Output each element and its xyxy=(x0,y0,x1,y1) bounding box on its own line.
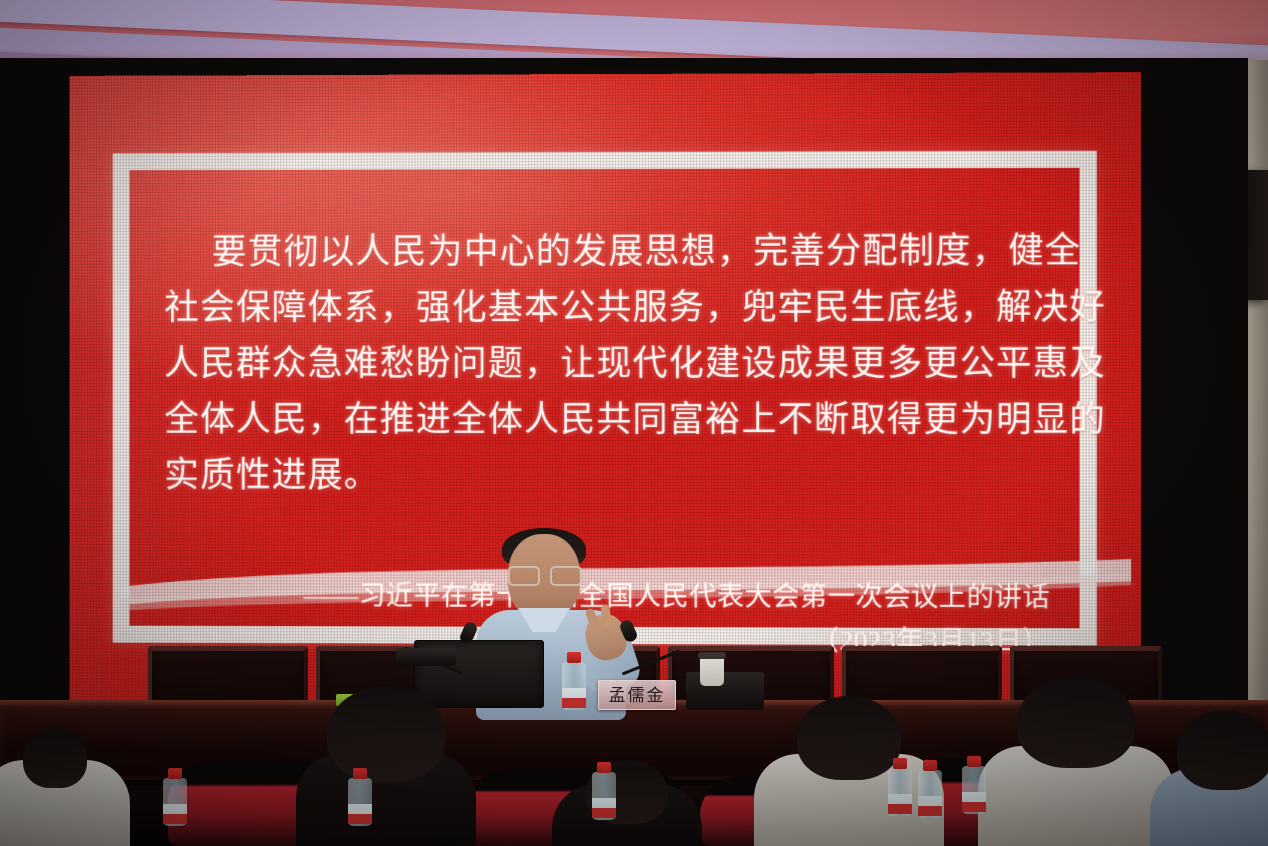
cup-lid xyxy=(698,652,726,659)
nameplate-text: 孟儒金 xyxy=(609,687,666,704)
slide-quote: 要贯彻以人民为中心的发展思想，完善分配制度，健全 社会保障体系，强化基本公共服务… xyxy=(164,223,1048,504)
stage-chair xyxy=(148,646,308,708)
control-unit xyxy=(686,672,764,710)
audience-person xyxy=(0,726,130,846)
bottle-cap xyxy=(923,760,937,771)
water-bottle xyxy=(163,768,187,826)
quote-line-3: 人民群众急难愁盼问题，让现代化建设成果更多更公平惠及 xyxy=(164,336,1048,392)
bottle-label-band xyxy=(163,814,187,824)
bottle-label-band xyxy=(562,698,586,708)
microphone-base xyxy=(396,648,456,666)
bottle-label-band xyxy=(918,806,942,816)
audience-head xyxy=(797,696,901,780)
bottle-label-band xyxy=(962,802,986,812)
audience-person xyxy=(296,686,476,846)
bottle-cap xyxy=(168,768,182,779)
water-bottle xyxy=(962,756,986,814)
quote-line-5: 实质性进展。 xyxy=(164,448,1048,505)
bottle-label-band xyxy=(348,814,372,824)
paper-cup xyxy=(700,656,724,686)
audience-head xyxy=(327,686,445,782)
audience-person xyxy=(978,676,1174,846)
water-bottle xyxy=(888,758,912,816)
bottle-cap xyxy=(567,652,581,663)
quote-line-1: 要贯彻以人民为中心的发展思想，完善分配制度，健全 xyxy=(164,223,1048,280)
bottle-label-band xyxy=(592,808,616,818)
microphone-head xyxy=(618,618,639,643)
bottle-cap xyxy=(353,768,367,779)
audience-head xyxy=(23,728,87,788)
bottle-cap xyxy=(967,756,981,767)
audience-person xyxy=(552,754,702,846)
quote-line-4: 全体人民，在推进全体人民共同富裕上不断取得更为明显的 xyxy=(164,392,1048,448)
audience-person xyxy=(1150,706,1268,846)
audience-head xyxy=(1017,676,1135,768)
audience-person xyxy=(754,696,944,846)
microphone-right xyxy=(620,620,700,664)
bottle-cap xyxy=(597,762,611,773)
bottle-label-band xyxy=(888,804,912,814)
water-bottle xyxy=(562,652,586,710)
water-bottle xyxy=(918,760,942,818)
microphone-left xyxy=(402,622,482,662)
quote-line-2: 社会保障体系，强化基本公共服务，兜牢民生底线，解决好 xyxy=(164,279,1048,336)
attribution-source: ——习近平在第十四届全国人民代表大会第一次会议上的讲话 xyxy=(289,573,1050,619)
nameplate: 孟儒金 xyxy=(598,680,676,710)
bottle-cap xyxy=(893,758,907,769)
microphone-head xyxy=(458,620,479,645)
audience-head xyxy=(1177,710,1268,790)
water-bottle xyxy=(592,762,616,820)
water-bottle xyxy=(348,768,372,826)
glasses-icon xyxy=(508,566,582,583)
conference-hall-scene: 要贯彻以人民为中心的发展思想，完善分配制度，健全 社会保障体系，强化基本公共服务… xyxy=(0,0,1268,846)
